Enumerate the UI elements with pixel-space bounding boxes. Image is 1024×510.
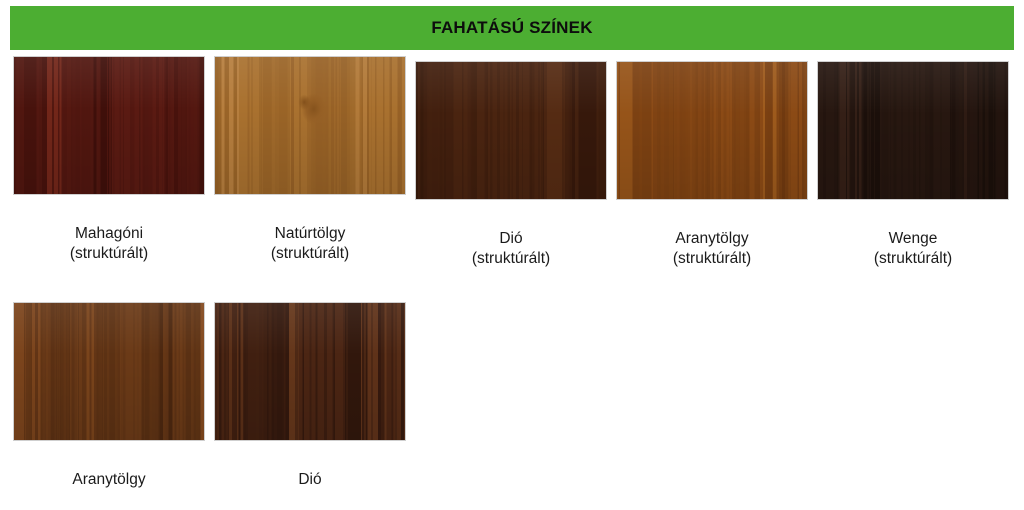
swatch-name: Aranytölgy (72, 471, 145, 488)
swatch-name: Mahagóni (75, 225, 143, 242)
wood-grain-texture (14, 303, 204, 440)
swatch-finish: (struktúrált) (874, 249, 952, 269)
wood-grain-texture (215, 57, 405, 194)
swatch-cell-aranytolgy-structured[interactable]: Aranytölgy (struktúrált) (615, 56, 809, 289)
swatch-name: Dió (298, 471, 321, 488)
swatch-chip-aranytolgy-structured[interactable] (616, 61, 808, 200)
swatch-chip-dio-structured[interactable] (415, 61, 607, 200)
swatch-row-structured: Mahagóni (struktúrált) Natúrtölgy (struk… (0, 56, 1024, 289)
wood-grain-texture (617, 62, 807, 199)
swatch-label-naturtolgy-structured: Natúrtölgy (struktúrált) (271, 204, 349, 284)
swatch-chip-aranytolgy[interactable] (13, 302, 205, 441)
swatch-finish: (struktúrált) (472, 249, 550, 269)
header-banner: FAHATÁSÚ SZÍNEK (10, 6, 1014, 50)
swatch-chip-wenge-structured[interactable] (817, 61, 1009, 200)
swatch-label-dio: Dió (298, 450, 321, 510)
swatch-label-aranytolgy-structured: Aranytölgy (struktúrált) (673, 209, 751, 289)
swatch-chip-mahagoni-structured[interactable] (13, 56, 205, 195)
swatch-label-wenge-structured: Wenge (struktúrált) (874, 209, 952, 289)
swatch-label-dio-structured: Dió (struktúrált) (472, 209, 550, 289)
wood-grain-texture (416, 62, 606, 199)
swatch-finish: (struktúrált) (673, 249, 751, 269)
swatch-chip-naturtolgy-structured[interactable] (214, 56, 406, 195)
page-title: FAHATÁSÚ SZÍNEK (431, 18, 592, 38)
swatch-label-aranytolgy: Aranytölgy (72, 450, 145, 510)
wood-grain-texture (215, 303, 405, 440)
swatch-cell-mahagoni-structured[interactable]: Mahagóni (struktúrált) (12, 56, 206, 284)
swatch-name: Wenge (889, 230, 938, 247)
swatch-cell-naturtolgy-structured[interactable]: Natúrtölgy (struktúrált) (213, 56, 407, 284)
swatch-name: Aranytölgy (675, 230, 748, 247)
swatch-cell-wenge-structured[interactable]: Wenge (struktúrált) (816, 56, 1010, 289)
swatch-label-mahagoni-structured: Mahagóni (struktúrált) (70, 204, 148, 284)
wood-grain-texture (14, 57, 204, 194)
swatch-name: Natúrtölgy (275, 225, 346, 242)
swatch-cell-dio[interactable]: Dió (213, 302, 407, 510)
swatch-chip-dio[interactable] (214, 302, 406, 441)
swatch-finish: (struktúrált) (271, 244, 349, 264)
swatch-finish: (struktúrált) (70, 244, 148, 264)
swatch-name: Dió (499, 230, 522, 247)
swatch-cell-aranytolgy[interactable]: Aranytölgy (12, 302, 206, 510)
wood-grain-texture (818, 62, 1008, 199)
color-swatch-grid: Mahagóni (struktúrált) Natúrtölgy (struk… (0, 56, 1024, 510)
swatch-row-smooth: Aranytölgy Dió (0, 302, 1024, 510)
swatch-cell-dio-structured[interactable]: Dió (struktúrált) (414, 56, 608, 289)
